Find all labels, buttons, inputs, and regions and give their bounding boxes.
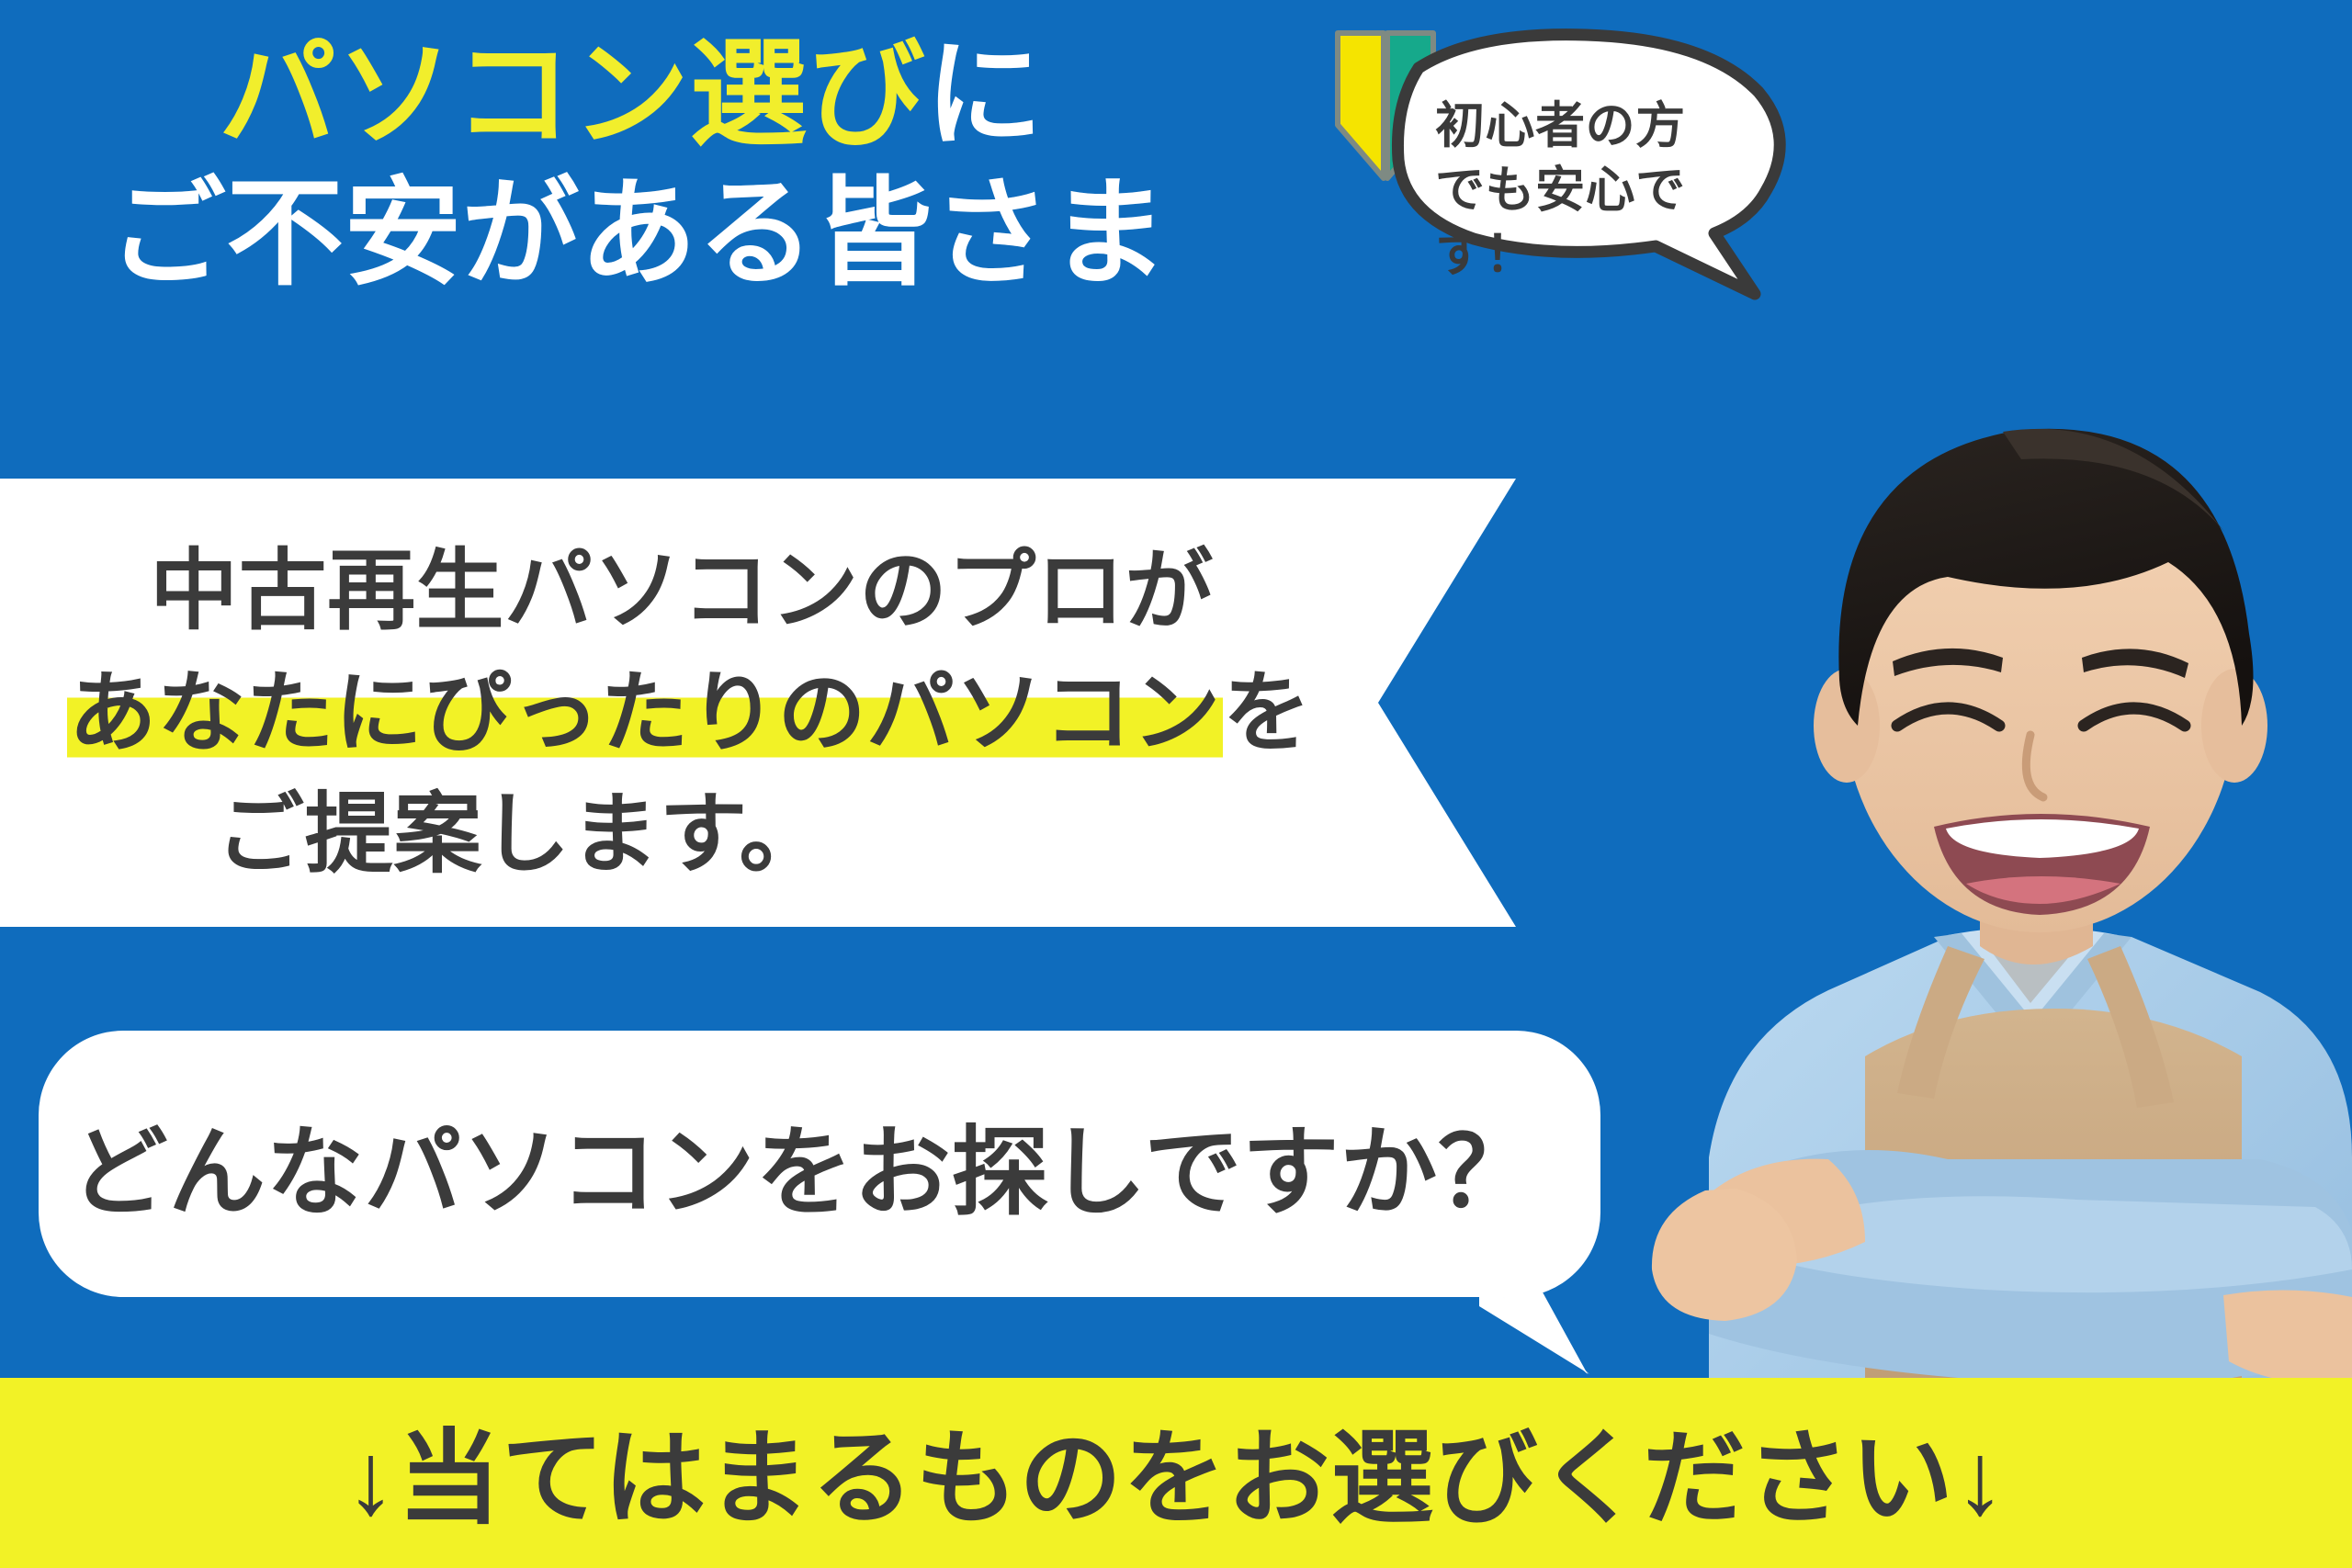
cta-text: ↓当てはまるものをお選びください↓ bbox=[345, 1395, 2007, 1544]
ribbon-line-1: 中古再生パソコンのプロが bbox=[150, 535, 1214, 649]
ribbon-line-2-suffix: を bbox=[1223, 664, 1311, 762]
headline-line-1-white: に bbox=[925, 29, 1043, 161]
proposal-ribbon-text: 中古再生パソコンのプロが あなたにぴったりのパソコンを ご提案します。 bbox=[0, 479, 1378, 927]
reassurance-line-2: でも安心です！ bbox=[1435, 158, 1766, 287]
reassurance-line-1: 初心者の方 bbox=[1435, 94, 1766, 158]
headline-line-1: パソコン選びに bbox=[108, 26, 1413, 164]
cta-arrow-left-icon: ↓ bbox=[345, 1421, 398, 1536]
ribbon-line-2: あなたにぴったりのパソコンを bbox=[67, 657, 1312, 772]
headline-line-2: ご不安がある皆さま bbox=[108, 164, 1413, 303]
cta-bar[interactable]: ↓当てはまるものをお選びください↓ bbox=[0, 1378, 2352, 1568]
cta-arrow-right-icon: ↓ bbox=[1954, 1421, 2007, 1536]
headline-line-1-yellow: パソコン選び bbox=[219, 29, 925, 161]
ribbon-line-2-highlight: あなたにぴったりのパソコン bbox=[67, 664, 1223, 762]
cta-label: 当てはまるものをお選びください bbox=[398, 1421, 1955, 1536]
reassurance-bubble: 初心者の方 でも安心です！ bbox=[1387, 26, 1801, 301]
hero-banner: パソコン選びに ご不安がある皆さま 初心者の方 でも安心です！ 中古再生パソコン… bbox=[0, 0, 2352, 1568]
ribbon-line-3: ご提案します。 bbox=[216, 778, 828, 893]
headline: パソコン選びに ご不安がある皆さま bbox=[108, 26, 1413, 303]
question-bubble-tail-icon bbox=[1479, 1275, 1599, 1376]
question-bubble: どんなパソコンをお探しですか？ bbox=[39, 1031, 1600, 1297]
reassurance-bubble-text: 初心者の方 でも安心です！ bbox=[1435, 94, 1766, 288]
question-bubble-text: どんなパソコンをお探しですか？ bbox=[22, 1031, 1584, 1297]
proposal-ribbon: 中古再生パソコンのプロが あなたにぴったりのパソコンを ご提案します。 bbox=[0, 479, 1516, 927]
